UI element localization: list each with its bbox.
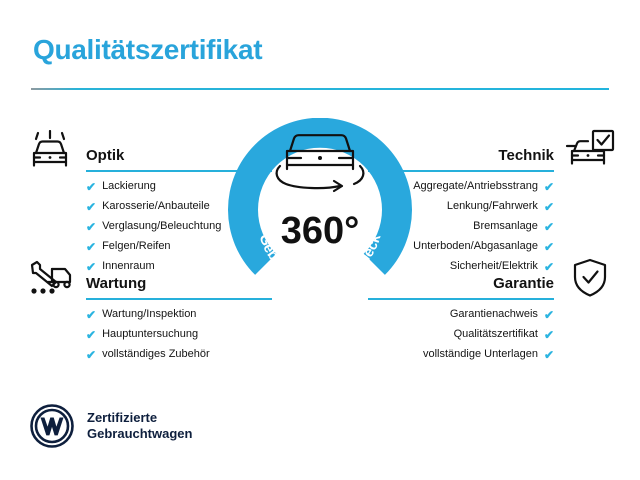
footer-line-2: Gebrauchtwagen [87,426,192,442]
title-divider [31,88,609,90]
check-icon: ✔ [544,309,554,321]
car-front-checkbox-icon [562,128,618,172]
page-title: Qualitätszertifikat [33,33,262,67]
list-item-label: Aggregate/Antriebsstrang [413,180,538,193]
check-icon: ✔ [86,221,96,233]
check-icon: ✔ [86,329,96,341]
footer-branding: Zertifizierte Gebrauchtwagen [30,404,192,448]
list-item: ✔Bremsanlage [473,220,554,233]
list-item: ✔Hauptuntersuchung [86,328,272,341]
list-item: ✔Wartung/Inspektion [86,308,272,321]
checklist-garantie: ✔Garantienachweis ✔Qualitätszertifikat ✔… [368,308,618,368]
list-item-label: Verglasung/Beleuchtung [102,220,221,233]
list-item: ✔vollständige Unterlagen [423,348,554,361]
list-item-label: Karosserie/Anbauteile [102,200,210,213]
check-icon: ✔ [544,221,554,233]
checklist-wartung: ✔Wartung/Inspektion ✔Hauptuntersuchung ✔… [22,308,272,361]
check-icon: ✔ [544,201,554,213]
wrench-car-icon [22,256,78,300]
badge-360-gebrauchtwagen-check: 360° Gebrauchtwagen-Check [228,118,412,302]
check-icon: ✔ [86,201,96,213]
list-item-label: Garantienachweis [450,308,538,321]
check-icon: ✔ [86,349,96,361]
check-icon: ✔ [86,241,96,253]
list-item: ✔Unterboden/Abgasanlage [413,240,554,253]
check-icon: ✔ [544,349,554,361]
certificate-page: Qualitätszertifikat Optik [0,0,640,480]
check-icon: ✔ [86,181,96,193]
list-item-label: Wartung/Inspektion [102,308,196,321]
list-item: ✔Lenkung/Fahrwerk [447,200,554,213]
badge-center-label: 360° [281,210,360,252]
list-item: ✔Qualitätszertifikat [454,328,554,341]
car-front-shine-icon [22,128,78,172]
list-item-label: Lenkung/Fahrwerk [447,200,538,213]
list-item-label: Unterboden/Abgasanlage [413,240,538,253]
vw-logo-icon [30,404,74,448]
check-icon: ✔ [544,329,554,341]
check-icon: ✔ [86,309,96,321]
footer-text: Zertifizierte Gebrauchtwagen [87,410,192,442]
section-title-garantie: Garantie [493,274,554,293]
list-item: ✔Garantienachweis [450,308,554,321]
check-icon: ✔ [544,241,554,253]
footer-line-1: Zertifizierte [87,410,192,426]
list-item-label: Bremsanlage [473,220,538,233]
check-icon: ✔ [544,181,554,193]
list-item-label: vollständiges Zubehör [102,348,210,361]
list-item-label: Qualitätszertifikat [454,328,538,341]
list-item-label: vollständige Unterlagen [423,348,538,361]
list-item: ✔Aggregate/Antriebsstrang [413,180,554,193]
list-item: ✔vollständiges Zubehör [86,348,272,361]
shield-check-icon [562,256,618,300]
list-item-label: Hauptuntersuchung [102,328,198,341]
list-item-label: Lackierung [102,180,156,193]
section-title-technik: Technik [498,146,554,165]
list-item-label: Felgen/Reifen [102,240,171,253]
